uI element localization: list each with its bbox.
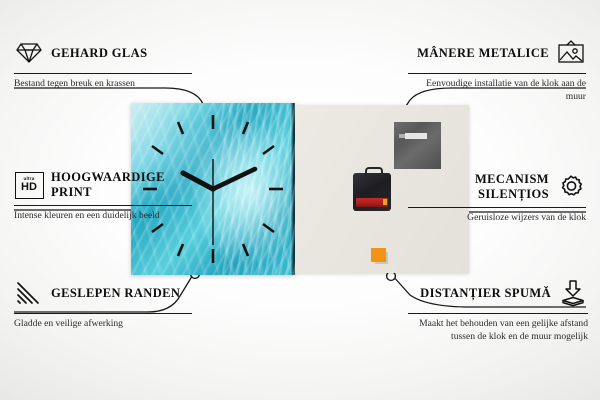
callout-mecanism-silentios: MECANISM SILENȚIOS Geruisloze wijzers va… [408,170,586,225]
callout-title: GEHARD GLAS [51,46,147,61]
gear-icon [556,172,586,202]
callout-description: Gladde en veilige afwerking [14,318,192,331]
callout-title: MÂNERE METALICE [417,46,549,61]
callout-title: GESLEPEN RANDEN [51,286,180,301]
clock-hands [183,159,255,245]
hanger-slot [405,133,427,139]
callout-description: Geruisloze wijzers van de klok [408,212,586,225]
callout-title: MECANISM SILENȚIOS [408,172,549,202]
ultra-hd-icon-large-text: HD [21,182,37,193]
hands-center-cap [210,186,215,191]
callout-description: Bestand tegen breuk en krassen [14,78,192,91]
callout-header: GEHARD GLAS [14,36,192,70]
callout-distantier-spuma: DISTANȚIER SPUMĂ Maakt het behouden van … [408,276,588,344]
callout-divider [408,313,588,314]
mechanism-hook [365,167,383,177]
callout-description: Maakt het behouden van een gelijke afsta… [408,318,588,344]
press-down-icon [558,278,588,308]
callout-divider [408,73,586,74]
product-infographic: GEHARD GLAS Bestand tegen breuk en krass… [0,0,600,400]
hatch-lines-icon [14,278,44,308]
picture-frame-icon [556,38,586,68]
minute-hand [213,169,255,189]
callout-header: MECANISM SILENȚIOS [408,170,586,204]
callout-header: MÂNERE METALICE [408,36,586,70]
callout-geslepen-randen: GESLEPEN RANDEN Gladde en veilige afwerk… [14,276,192,331]
callout-divider [14,313,192,314]
callout-description: Eenvoudige installatie van de klok aan d… [408,78,586,104]
battery [356,198,388,207]
clock-face [131,103,295,275]
callout-title: DISTANȚIER SPUMĂ [420,286,551,301]
clock-mechanism [353,173,391,211]
ultra-hd-icon: ultra HD [14,170,44,200]
callout-header: GESLEPEN RANDEN [14,276,192,310]
callout-header: DISTANȚIER SPUMĂ [408,276,588,310]
battery-tip [383,199,387,205]
callout-divider [14,73,192,74]
foam-spacer [371,248,386,262]
callout-manere-metalice: MÂNERE METALICE Eenvoudige installatie v… [408,36,586,104]
diamond-icon [14,38,44,68]
callout-divider [408,207,586,208]
hour-hand [183,173,213,189]
hanger-plate [394,122,441,169]
callout-gehard-glas: GEHARD GLAS Bestand tegen breuk en krass… [14,36,192,91]
